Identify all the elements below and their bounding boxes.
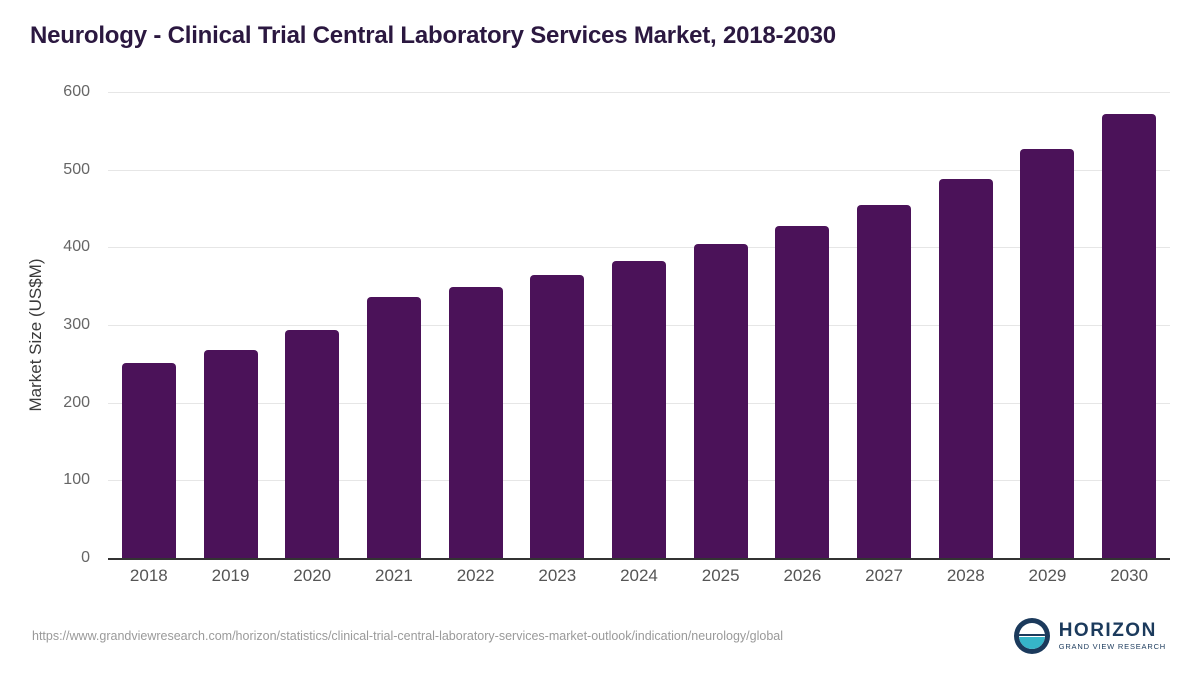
bar-2019[interactable] <box>204 350 258 558</box>
bar-group: 2030 <box>1088 0 1170 675</box>
bar-2028[interactable] <box>939 179 993 558</box>
bar-group: 2022 <box>435 0 517 675</box>
bar-2023[interactable] <box>530 275 584 558</box>
bar-series: 2018201920202021202220232024202520262027… <box>108 0 1170 675</box>
bar-group: 2028 <box>925 0 1007 675</box>
bar-2026[interactable] <box>775 226 829 558</box>
x-tick-label: 2018 <box>130 566 168 586</box>
x-tick-label: 2027 <box>865 566 903 586</box>
bar-group: 2023 <box>516 0 598 675</box>
bar-group: 2026 <box>762 0 844 675</box>
bar-group: 2020 <box>271 0 353 675</box>
y-axis-title: Market Size (US$M) <box>26 125 46 545</box>
x-tick-label: 2022 <box>457 566 495 586</box>
brand-logo: HORIZON GRAND VIEW RESEARCH <box>1014 618 1166 654</box>
bar-2030[interactable] <box>1102 114 1156 558</box>
bar-2022[interactable] <box>449 287 503 558</box>
bar-2020[interactable] <box>285 330 339 558</box>
x-tick-label: 2029 <box>1029 566 1067 586</box>
bar-group: 2029 <box>1007 0 1089 675</box>
chart-page: Neurology - Clinical Trial Central Labor… <box>0 0 1200 675</box>
x-tick-label: 2023 <box>538 566 576 586</box>
bar-2027[interactable] <box>857 205 911 558</box>
x-tick-label: 2024 <box>620 566 658 586</box>
bar-group: 2021 <box>353 0 435 675</box>
bar-2024[interactable] <box>612 261 666 558</box>
x-tick-label: 2030 <box>1110 566 1148 586</box>
bar-group: 2024 <box>598 0 680 675</box>
y-tick-label: 600 <box>44 83 90 101</box>
bar-2025[interactable] <box>694 244 748 558</box>
y-tick-label: 0 <box>44 549 90 567</box>
bar-group: 2019 <box>190 0 272 675</box>
x-tick-label: 2019 <box>212 566 250 586</box>
logo-subtitle: GRAND VIEW RESEARCH <box>1059 643 1166 651</box>
plot-area: Market Size (US$M) 0100200300400500600 2… <box>0 0 1200 675</box>
logo-name: HORIZON <box>1059 621 1166 640</box>
x-tick-label: 2028 <box>947 566 985 586</box>
y-tick-label: 100 <box>44 471 90 489</box>
source-url[interactable]: https://www.grandviewresearch.com/horizo… <box>32 628 912 644</box>
bar-group: 2018 <box>108 0 190 675</box>
bar-2018[interactable] <box>122 363 176 558</box>
bar-group: 2025 <box>680 0 762 675</box>
bar-2029[interactable] <box>1020 149 1074 558</box>
y-tick-label: 300 <box>44 316 90 334</box>
horizon-circle-icon <box>1014 618 1050 654</box>
y-axis-tick-labels: 0100200300400500600 <box>44 0 90 675</box>
x-tick-label: 2025 <box>702 566 740 586</box>
x-tick-label: 2021 <box>375 566 413 586</box>
x-tick-label: 2026 <box>783 566 821 586</box>
x-tick-label: 2020 <box>293 566 331 586</box>
bar-group: 2027 <box>843 0 925 675</box>
y-tick-label: 400 <box>44 238 90 256</box>
y-tick-label: 200 <box>44 394 90 412</box>
bar-2021[interactable] <box>367 297 421 558</box>
y-tick-label: 500 <box>44 161 90 179</box>
